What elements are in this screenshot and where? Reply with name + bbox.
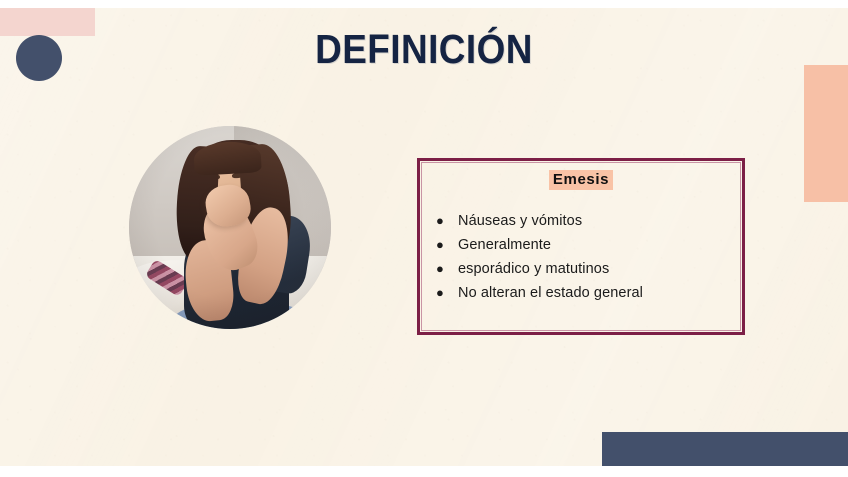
photo-illustration <box>129 126 331 329</box>
list-item: ● esporádico y matutinos <box>436 258 643 280</box>
patient-photo <box>129 126 331 329</box>
salmon-rectangle-decoration <box>804 65 848 202</box>
photo-vignette <box>129 126 331 329</box>
list-item: ● Náuseas y vómitos <box>436 210 643 232</box>
navy-bar-decoration <box>602 432 848 466</box>
bullet-text: Generalmente <box>458 234 643 256</box>
bullet-icon: ● <box>436 259 458 279</box>
emesis-content-box: Emesis ● Náuseas y vómitos ● Generalment… <box>417 158 745 335</box>
list-item: ● Generalmente <box>436 234 643 256</box>
bullet-text: No alteran el estado general <box>458 282 643 304</box>
bullet-text: Náuseas y vómitos <box>458 210 643 232</box>
emesis-bullet-list: ● Náuseas y vómitos ● Generalmente ● esp… <box>436 210 643 306</box>
emesis-heading: Emesis <box>549 170 613 190</box>
bullet-icon: ● <box>436 235 458 255</box>
slide-canvas: DEFINICIÓN <box>0 8 848 466</box>
list-item: ● No alteran el estado general <box>436 282 643 304</box>
page-title: DEFINICIÓN <box>42 26 805 73</box>
emesis-heading-row: Emesis <box>420 170 742 190</box>
bullet-icon: ● <box>436 283 458 303</box>
bullet-text: esporádico y matutinos <box>458 258 643 280</box>
bullet-icon: ● <box>436 211 458 231</box>
slide-bottom-margin <box>0 466 848 477</box>
